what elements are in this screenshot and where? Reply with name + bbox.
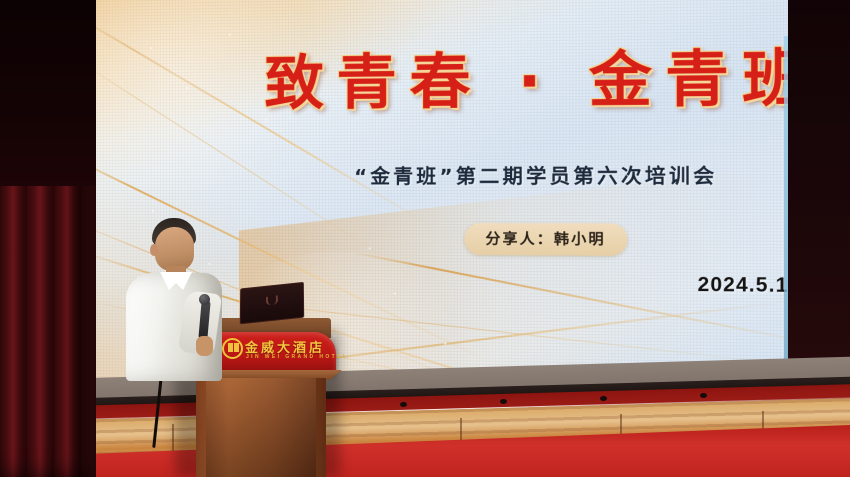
speaker-head bbox=[155, 227, 194, 271]
slide-speaker-badge: 分享人：韩小明 bbox=[464, 223, 627, 256]
right-wall bbox=[788, 0, 850, 418]
slide-subtitle: “金青班”第二期学员第六次培训会 bbox=[354, 160, 717, 189]
slide-main-title: 致青春 · 金青班 bbox=[264, 28, 788, 121]
curtain-top-dark bbox=[0, 0, 96, 186]
microphone-head-icon bbox=[199, 294, 210, 305]
speaker-ear bbox=[150, 244, 158, 256]
photo-scene: 致青春 · 金青班 “金青班”第二期学员第六次培训会 分享人：韩小明 2024.… bbox=[0, 0, 850, 477]
slide-date: 2024.5.17 bbox=[698, 274, 788, 298]
speaker-person bbox=[120, 218, 240, 378]
podium-body bbox=[196, 378, 326, 477]
speaker-hand bbox=[196, 336, 213, 356]
podium-logo-english: JIN WEI GRAND HOTEL bbox=[246, 354, 348, 360]
